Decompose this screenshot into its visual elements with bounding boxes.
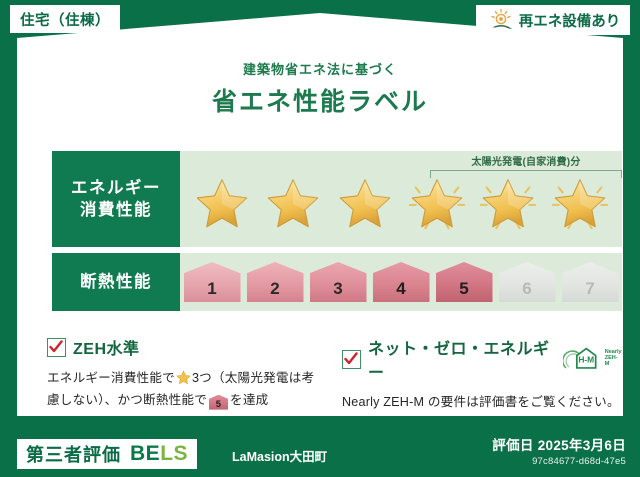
zeh-m-logo: H-M Nearly ZEH-M xyxy=(563,346,622,372)
svg-text:H-M: H-M xyxy=(578,354,594,364)
criteria-zeh: ZEH水準 エネルギー消費性能で3つ（太陽光発電は考慮しない）、かつ断熱性能で5… xyxy=(47,335,327,411)
inline-grade-badge: 5 xyxy=(209,395,228,410)
star-5 xyxy=(477,172,539,234)
insulation-grade-1: 1 xyxy=(184,262,241,302)
criteria-zeh-body: エネルギー消費性能で3つ（太陽光発電は考慮しない）、かつ断熱性能で5を達成 xyxy=(47,368,327,411)
star-4 xyxy=(406,172,468,234)
criteria-zeh-header: ZEH水準 xyxy=(47,335,327,359)
star-1 xyxy=(191,172,253,234)
insulation-performance-label-line1: 断熱性能 xyxy=(80,271,152,293)
renewable-energy-tag-label: 再エネ設備あり xyxy=(519,10,621,31)
energy-performance-body: 太陽光発電(自家消費)分 xyxy=(180,151,622,247)
insulation-performance-row: 断熱性能 1234567 xyxy=(52,253,622,311)
insulation-performance-body: 1234567 xyxy=(180,253,622,311)
checkbox-net-zero-energy[interactable] xyxy=(342,350,361,369)
criteria-zeh-title: ZEH水準 xyxy=(73,335,140,359)
star-3 xyxy=(334,172,396,234)
insulation-grade-3: 3 xyxy=(310,262,367,302)
insulation-grade-6: 6 xyxy=(499,262,556,302)
inline-star-icon xyxy=(176,370,191,385)
energy-performance-label-line2: 消費性能 xyxy=(80,199,152,221)
bels-badge: 第三者評価 BELS xyxy=(17,439,197,469)
star-6 xyxy=(549,172,611,234)
evaluation-info: 評価日 2025年3月6日 97c84677-d68d-47e5 xyxy=(492,434,626,467)
bels-badge-en-label: BELS xyxy=(130,442,188,466)
evaluation-date: 評価日 2025年3月6日 xyxy=(492,434,626,454)
title-subtitle: 建築物省エネ法に基づく xyxy=(17,59,623,78)
criteria-net-zero-energy-body: Nearly ZEH-M の要件は評価書をご覧ください。 xyxy=(342,392,622,414)
insulation-performance-label: 断熱性能 xyxy=(52,253,180,311)
house-type-tag: 住宅（住棟） xyxy=(10,5,120,33)
project-name: LaMasion大田町 xyxy=(232,446,327,465)
evaluation-id: 97c84677-d68d-47e5 xyxy=(492,456,626,467)
label-card: 建築物省エネ法に基づく 省エネ性能ラベル エネルギー 消費性能 太陽光発電(自家… xyxy=(17,13,623,416)
bels-badge-jp-label: 第三者評価 xyxy=(26,441,121,467)
star-rating xyxy=(180,151,622,247)
insulation-grade-scale: 1234567 xyxy=(180,253,622,311)
energy-performance-row: エネルギー 消費性能 太陽光発電(自家消費)分 xyxy=(52,151,622,247)
insulation-grade-2: 2 xyxy=(247,262,304,302)
energy-performance-label: 住宅（住棟） 再エネ設備あり 建築物省エネ法に基づく 省エネ性能ラベル xyxy=(0,0,640,477)
insulation-grade-7: 7 xyxy=(562,262,619,302)
zeh-m-logo-sub2: ZEH-M xyxy=(605,356,622,368)
energy-performance-label-line1: エネルギー xyxy=(71,177,161,199)
criteria-zeh-text-1: エネルギー消費性能で xyxy=(47,371,175,385)
criteria-net-zero-energy-title: ネット・ゼロ・エネルギー xyxy=(368,335,550,383)
bels-text-part2: LS xyxy=(160,442,188,465)
energy-performance-label: エネルギー 消費性能 xyxy=(52,151,180,247)
insulation-grade-5: 5 xyxy=(436,262,493,302)
title-block: 建築物省エネ法に基づく 省エネ性能ラベル xyxy=(17,59,623,118)
criteria-net-zero-energy: ネット・ゼロ・エネルギー H-M Nearly ZEH-M Nearly ZEH… xyxy=(342,335,622,414)
star-2 xyxy=(262,172,324,234)
house-type-tag-label: 住宅（住棟） xyxy=(20,9,110,30)
page-title: 省エネ性能ラベル xyxy=(17,82,623,118)
criteria-net-zero-energy-header: ネット・ゼロ・エネルギー H-M Nearly ZEH-M xyxy=(342,335,622,383)
insulation-grade-4: 4 xyxy=(373,262,430,302)
checkbox-zeh[interactable] xyxy=(47,338,66,357)
bels-text-part1: BE xyxy=(130,442,160,465)
criteria-zeh-text-3: を達成 xyxy=(230,393,268,407)
